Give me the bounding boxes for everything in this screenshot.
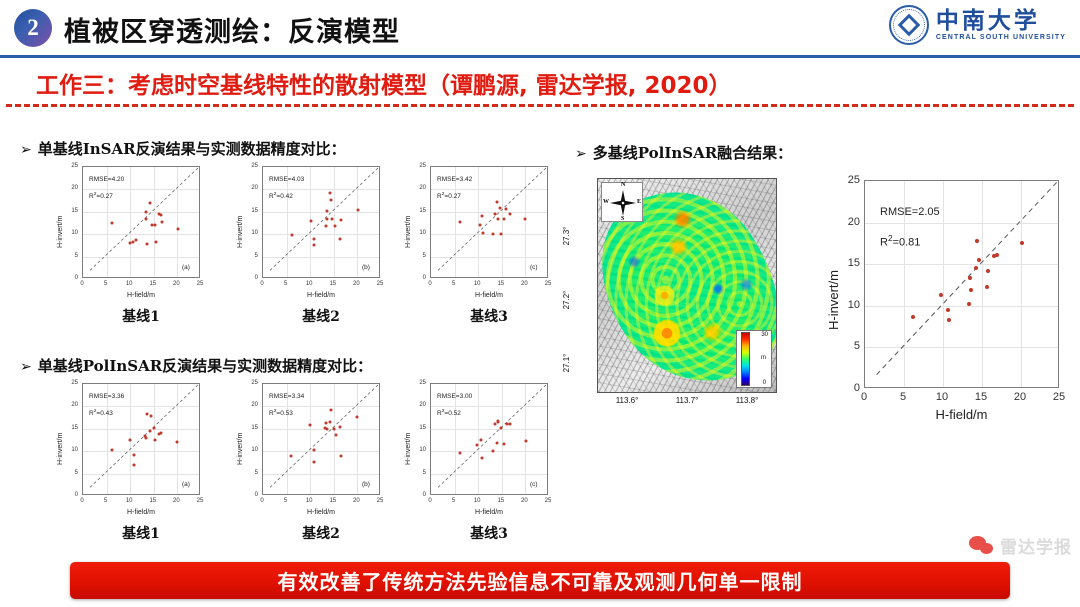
x-tick-label-3: 15 <box>975 391 987 403</box>
x-tick-label-2: 10 <box>474 498 481 504</box>
y-tick-label-4: 20 <box>52 185 78 191</box>
panel-id: (b) <box>362 264 370 271</box>
data-point <box>356 209 359 212</box>
panel-id: (c) <box>530 481 538 488</box>
y-axis-label: H-invert/m <box>57 433 64 465</box>
chart-caption: 基线1 <box>122 523 160 543</box>
data-point <box>145 436 148 439</box>
rmse-label: RMSE=2.05 <box>880 206 940 218</box>
data-point <box>524 218 527 221</box>
x-tick-label-2: 10 <box>126 498 133 504</box>
y-tick-label-3: 15 <box>232 208 258 214</box>
y-tick-label-0: 0 <box>400 275 426 281</box>
y-tick-label-2: 10 <box>232 230 258 236</box>
y-tick-label-2: 10 <box>400 447 426 453</box>
y-tick-label-1: 5 <box>232 470 258 476</box>
chart-polinsar-b2: RMSE=3.34R2=0.53(b)05101520250510152025H… <box>232 383 390 549</box>
chart-caption: 基线1 <box>122 306 160 326</box>
data-point <box>146 413 149 416</box>
r2-label: R2=0.27 <box>89 192 113 200</box>
chart-insar-b3: RMSE=3.42R2=0.27(c)05101520250510152025H… <box>400 166 558 332</box>
one-to-one-reference-line <box>431 167 547 277</box>
x-tick-label-1: 5 <box>452 498 455 504</box>
x-tick-label-1: 5 <box>900 391 906 403</box>
data-point <box>481 231 484 234</box>
data-point <box>356 416 359 419</box>
y-tick-label-1: 5 <box>400 470 426 476</box>
data-point <box>492 449 495 452</box>
data-point <box>325 217 328 220</box>
x-tick-label-5: 25 <box>377 498 384 504</box>
data-point <box>110 221 113 224</box>
bullet-label: 单基线PolInSAR反演结果与实测数据精度对比： <box>38 357 372 375</box>
map-colorbar: 30 m 0 <box>736 330 772 388</box>
y-tick-label-4: 20 <box>400 402 426 408</box>
data-point <box>329 408 332 411</box>
data-point <box>1020 241 1024 245</box>
y-tick-label-2: 10 <box>52 230 78 236</box>
data-point <box>133 464 136 467</box>
y-tick-label-0: 0 <box>52 275 78 281</box>
r2-label: R2=0.27 <box>437 192 461 200</box>
data-point <box>497 419 500 422</box>
data-point <box>161 221 164 224</box>
data-point <box>135 238 138 241</box>
x-tick-label-5: 25 <box>1053 391 1065 403</box>
x-tick-label-5: 25 <box>197 281 204 287</box>
data-point <box>478 224 481 227</box>
data-point <box>312 243 315 246</box>
colorbar-gradient <box>741 332 750 386</box>
data-point <box>911 315 915 319</box>
data-point <box>154 241 157 244</box>
chart-caption: 基线3 <box>470 306 508 326</box>
data-point <box>985 285 989 289</box>
y-tick-label-2: 10 <box>400 230 426 236</box>
x-tick-label-5: 25 <box>197 498 204 504</box>
one-to-one-reference-line <box>263 167 379 277</box>
data-point <box>505 208 508 211</box>
data-point <box>145 210 148 213</box>
y-tick-label-4: 20 <box>232 185 258 191</box>
rmse-label: RMSE=4.03 <box>269 176 304 183</box>
y-tick-label-1: 5 <box>52 253 78 259</box>
compass-west-label: W <box>603 199 609 205</box>
data-point <box>458 221 461 224</box>
colorbar-max-label: 30 <box>761 332 768 338</box>
university-name-en: CENTRAL SOUTH UNIVERSITY <box>936 34 1066 41</box>
page-title: 植被区穿透测绘：反演模型 <box>64 10 400 49</box>
data-point <box>176 228 179 231</box>
x-tick-label-4: 20 <box>353 281 360 287</box>
x-tick-label-1: 5 <box>452 281 455 287</box>
x-axis-label: H-field/m <box>127 292 155 299</box>
y-tick-label-1: 5 <box>52 470 78 476</box>
x-tick-label-0: 0 <box>861 391 867 403</box>
x-tick-label-1: 5 <box>284 498 287 504</box>
colorbar-min-label: 0 <box>763 380 766 386</box>
data-point <box>326 210 329 213</box>
compass-east-label: E <box>637 199 641 205</box>
chart-insar-b1: RMSE=4.20R2=0.27(a)05101520250510152025H… <box>52 166 210 332</box>
bullet-polinsar-comparison: ➢单基线PolInSAR反演结果与实测数据精度对比： <box>20 355 372 376</box>
y-tick-label-5: 25 <box>400 380 426 386</box>
bullet-fusion-result: ➢多基线PolInSAR融合结果： <box>575 142 792 163</box>
x-tick-label-3: 15 <box>497 498 504 504</box>
map-ytick-2: 27.3° <box>562 227 571 246</box>
x-tick-label-2: 10 <box>306 498 313 504</box>
university-logo: 中南大学 CENTRAL SOUTH UNIVERSITY <box>889 5 1066 45</box>
y-tick-label-1: 5 <box>232 253 258 259</box>
data-point <box>476 444 479 447</box>
colorbar-unit-label: m <box>761 355 766 361</box>
y-tick-label-3: 15 <box>400 425 426 431</box>
compass-south-label: S <box>621 216 624 222</box>
x-tick-label-4: 20 <box>173 498 180 504</box>
x-axis-label: H-field/m <box>127 509 155 516</box>
data-point <box>329 199 332 202</box>
one-to-one-reference-line <box>83 167 199 277</box>
bullet-arrow-icon: ➢ <box>20 359 32 375</box>
x-axis-label: H-field/m <box>935 407 987 422</box>
data-point <box>128 439 131 442</box>
compass-north-label: N <box>621 182 625 188</box>
y-tick-label-0: 0 <box>400 492 426 498</box>
x-tick-label-0: 0 <box>260 281 263 287</box>
data-point <box>947 318 951 322</box>
data-point <box>340 219 343 222</box>
x-tick-label-4: 20 <box>353 498 360 504</box>
data-point <box>969 288 973 292</box>
data-point <box>480 438 483 441</box>
data-point <box>492 232 495 235</box>
y-tick-label-2: 10 <box>232 447 258 453</box>
chart-insar-b2: RMSE=4.03R2=0.42(b)05101520250510152025H… <box>232 166 390 332</box>
data-point <box>313 237 316 240</box>
chart-polinsar-b1: RMSE=3.36R2=0.43(a)05101520250510152025H… <box>52 383 210 549</box>
one-to-one-reference-line <box>83 384 199 494</box>
rmse-label: RMSE=3.42 <box>437 176 472 183</box>
data-point <box>290 233 293 236</box>
x-tick-label-2: 10 <box>126 281 133 287</box>
x-tick-label-3: 15 <box>497 281 504 287</box>
chart-fusion-result: RMSE=2.05R2=0.8105101520250510152025H-fi… <box>820 180 1069 456</box>
conclusion-banner: 有效改善了传统方法先验信息不可靠及观测几何单一限制 <box>70 562 1010 599</box>
data-point <box>132 454 135 457</box>
y-tick-label-4: 20 <box>52 402 78 408</box>
header-divider <box>0 55 1080 58</box>
data-point <box>154 439 157 442</box>
university-seal-icon <box>889 5 929 45</box>
page-header: 2 植被区穿透测绘：反演模型 中南大学 CENTRAL SOUTH UNIVER… <box>0 0 1080 58</box>
bullet-label: 单基线InSAR反演结果与实测数据精度对比： <box>38 140 346 158</box>
panel-id: (a) <box>182 481 190 488</box>
data-point <box>332 428 335 431</box>
panel-id: (a) <box>182 264 190 271</box>
x-tick-label-4: 20 <box>1014 391 1026 403</box>
journal-watermark: 雷达学报 <box>969 533 1072 558</box>
data-point <box>502 217 505 220</box>
data-point <box>458 452 461 455</box>
map-xtick-2: 113.8° <box>736 396 759 405</box>
data-point <box>508 213 511 216</box>
data-point <box>144 217 147 220</box>
x-axis-label: H-field/m <box>475 509 503 516</box>
y-tick-label-3: 15 <box>820 257 860 269</box>
r2-label: R2=0.52 <box>437 409 461 417</box>
data-point <box>975 239 979 243</box>
wechat-logo-icon <box>969 536 995 556</box>
map-xtick-0: 113.6° <box>616 396 639 405</box>
map-canvas: N S W E 30 m 0 <box>597 178 777 393</box>
data-point <box>977 258 981 262</box>
chart-caption: 基线2 <box>302 306 340 326</box>
y-tick-label-0: 0 <box>820 382 860 394</box>
data-point <box>495 441 498 444</box>
y-tick-label-2: 10 <box>52 447 78 453</box>
data-point <box>110 449 113 452</box>
x-tick-label-3: 15 <box>329 281 336 287</box>
x-tick-label-1: 5 <box>104 281 107 287</box>
y-axis-label: H-invert/m <box>405 433 412 465</box>
one-to-one-reference-line <box>263 384 379 494</box>
data-point <box>974 266 978 270</box>
r2-label: R2=0.42 <box>269 192 293 200</box>
y-tick-label-5: 25 <box>400 163 426 169</box>
y-axis-label: H-invert/m <box>826 270 841 330</box>
panel-id: (b) <box>362 481 370 488</box>
y-axis-label: H-invert/m <box>237 216 244 248</box>
data-point <box>145 242 148 245</box>
x-tick-label-2: 10 <box>474 281 481 287</box>
y-tick-label-5: 25 <box>52 163 78 169</box>
data-point <box>153 426 156 429</box>
x-tick-label-0: 0 <box>80 281 83 287</box>
y-tick-label-0: 0 <box>52 492 78 498</box>
r2-label: R2=0.53 <box>269 409 293 417</box>
x-tick-label-0: 0 <box>260 498 263 504</box>
data-point <box>290 455 293 458</box>
university-logo-text: 中南大学 CENTRAL SOUTH UNIVERSITY <box>936 9 1066 41</box>
y-tick-label-0: 0 <box>232 492 258 498</box>
data-point <box>480 215 483 218</box>
data-point <box>176 440 179 443</box>
bullet-label: 多基线PolInSAR融合结果： <box>593 144 792 162</box>
data-point <box>312 448 315 451</box>
data-point <box>498 207 501 210</box>
y-axis-label: H-invert/m <box>237 433 244 465</box>
x-tick-label-2: 10 <box>936 391 948 403</box>
data-point <box>508 422 511 425</box>
university-name-cn: 中南大学 <box>936 9 1066 32</box>
journal-name: 雷达学报 <box>1000 533 1072 558</box>
data-point <box>150 415 153 418</box>
bullet-insar-comparison: ➢单基线InSAR反演结果与实测数据精度对比： <box>20 138 346 159</box>
y-axis-label: H-invert/m <box>405 216 412 248</box>
data-point <box>149 430 152 433</box>
x-tick-label-0: 0 <box>428 281 431 287</box>
data-point <box>160 431 163 434</box>
y-tick-label-5: 25 <box>820 174 860 186</box>
map-ytick-1: 27.2° <box>562 291 571 310</box>
x-tick-label-4: 20 <box>173 281 180 287</box>
y-tick-label-3: 15 <box>52 425 78 431</box>
data-point <box>481 457 484 460</box>
x-tick-label-5: 25 <box>545 281 552 287</box>
map-xtick-1: 113.7° <box>676 396 699 405</box>
data-point <box>310 220 313 223</box>
rmse-label: RMSE=3.00 <box>437 393 472 400</box>
x-tick-label-4: 20 <box>521 281 528 287</box>
subtitle-dashed-divider <box>6 104 1074 107</box>
x-tick-label-0: 0 <box>428 498 431 504</box>
data-point <box>503 442 506 445</box>
bullet-arrow-icon: ➢ <box>20 142 32 158</box>
data-point <box>328 191 331 194</box>
data-point <box>331 218 334 221</box>
x-tick-label-3: 15 <box>149 281 156 287</box>
rmse-label: RMSE=3.36 <box>89 393 124 400</box>
r2-label: R2=0.43 <box>89 409 113 417</box>
chart-polinsar-b3: RMSE=3.00R2=0.52(c)05101520250510152025H… <box>400 383 558 549</box>
data-point <box>333 225 336 228</box>
y-tick-label-4: 20 <box>820 216 860 228</box>
y-tick-label-5: 25 <box>52 380 78 386</box>
chart-caption: 基线3 <box>470 523 508 543</box>
data-point <box>324 224 327 227</box>
data-point <box>495 201 498 204</box>
data-point <box>524 439 527 442</box>
r2-label: R2=0.81 <box>880 234 920 249</box>
rmse-label: RMSE=3.34 <box>269 393 304 400</box>
y-tick-label-3: 15 <box>52 208 78 214</box>
x-tick-label-5: 25 <box>545 498 552 504</box>
data-point <box>326 427 329 430</box>
y-tick-label-1: 5 <box>400 253 426 259</box>
rmse-label: RMSE=4.20 <box>89 176 124 183</box>
x-axis-label: H-field/m <box>307 509 335 516</box>
x-tick-label-3: 15 <box>149 498 156 504</box>
data-point <box>308 423 311 426</box>
data-point <box>338 426 341 429</box>
x-axis-label: H-field/m <box>307 292 335 299</box>
data-point <box>153 223 156 226</box>
data-point <box>967 302 971 306</box>
data-point <box>149 202 152 205</box>
panel-id: (c) <box>530 264 538 271</box>
y-tick-label-0: 0 <box>232 275 258 281</box>
work-subtitle: 工作三：考虑时空基线特性的散射模型（谭鹏源, 雷达学报, 2020） <box>36 66 732 100</box>
x-tick-label-1: 5 <box>104 498 107 504</box>
data-point <box>335 434 338 437</box>
y-tick-label-4: 20 <box>400 185 426 191</box>
data-point <box>340 454 343 457</box>
data-point <box>499 233 502 236</box>
y-tick-label-4: 20 <box>232 402 258 408</box>
data-point <box>986 269 990 273</box>
y-tick-label-1: 5 <box>820 340 860 352</box>
y-tick-label-5: 25 <box>232 380 258 386</box>
x-axis-label: H-field/m <box>475 292 503 299</box>
data-point <box>159 213 162 216</box>
data-point <box>325 421 328 424</box>
data-point <box>338 238 341 241</box>
data-point <box>968 276 972 280</box>
one-to-one-reference-line <box>431 384 547 494</box>
data-point <box>499 426 502 429</box>
data-point <box>946 308 950 312</box>
data-point <box>493 213 496 216</box>
x-tick-label-5: 25 <box>377 281 384 287</box>
bullet-arrow-icon: ➢ <box>575 146 587 162</box>
x-tick-label-4: 20 <box>521 498 528 504</box>
y-tick-label-3: 15 <box>232 425 258 431</box>
x-tick-label-3: 15 <box>329 498 336 504</box>
x-tick-label-0: 0 <box>80 498 83 504</box>
data-point <box>497 217 500 220</box>
x-tick-label-2: 10 <box>306 281 313 287</box>
x-tick-label-1: 5 <box>284 281 287 287</box>
y-tick-label-5: 25 <box>232 163 258 169</box>
section-number-badge: 2 <box>14 9 52 47</box>
data-point <box>995 253 999 257</box>
map-ytick-0: 27.1° <box>562 354 571 373</box>
compass-rose-icon: N S W E <box>601 182 643 222</box>
data-point <box>313 461 316 464</box>
data-point <box>329 420 332 423</box>
chart-caption: 基线2 <box>302 523 340 543</box>
data-point <box>132 241 135 244</box>
y-tick-label-3: 15 <box>400 208 426 214</box>
data-point <box>939 293 943 297</box>
y-axis-label: H-invert/m <box>57 216 64 248</box>
